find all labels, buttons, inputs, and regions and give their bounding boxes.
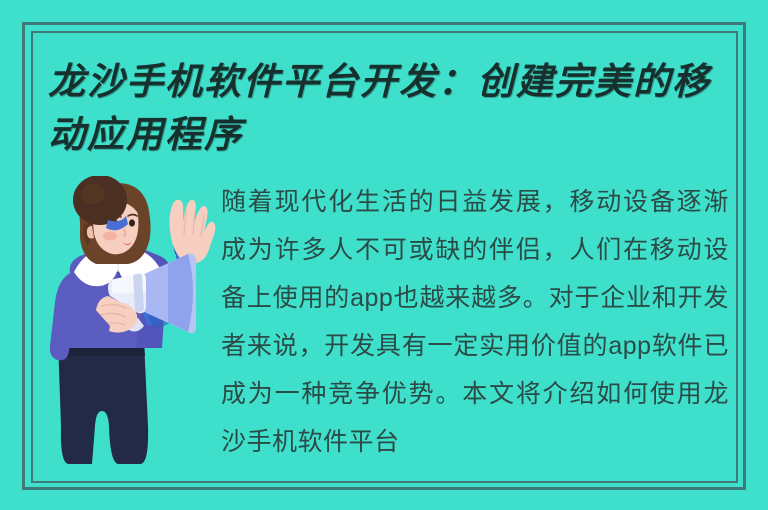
trousers-shape bbox=[58, 341, 148, 464]
cheek-blush bbox=[103, 232, 117, 241]
woman-with-megaphone-illustration bbox=[36, 176, 226, 468]
article-body: 随着现代化生活的日益发展，移动设备逐渐成为许多人不可或缺的伴侣，人们在移动设备上… bbox=[221, 178, 729, 466]
page-title: 龙沙手机软件平台开发：创建完美的移动应用程序 bbox=[48, 56, 738, 162]
eye-right bbox=[129, 219, 135, 226]
poster-canvas: 龙沙手机软件平台开发：创建完美的移动应用程序 随着现代化生活的日益发展，移动设备… bbox=[0, 0, 768, 510]
